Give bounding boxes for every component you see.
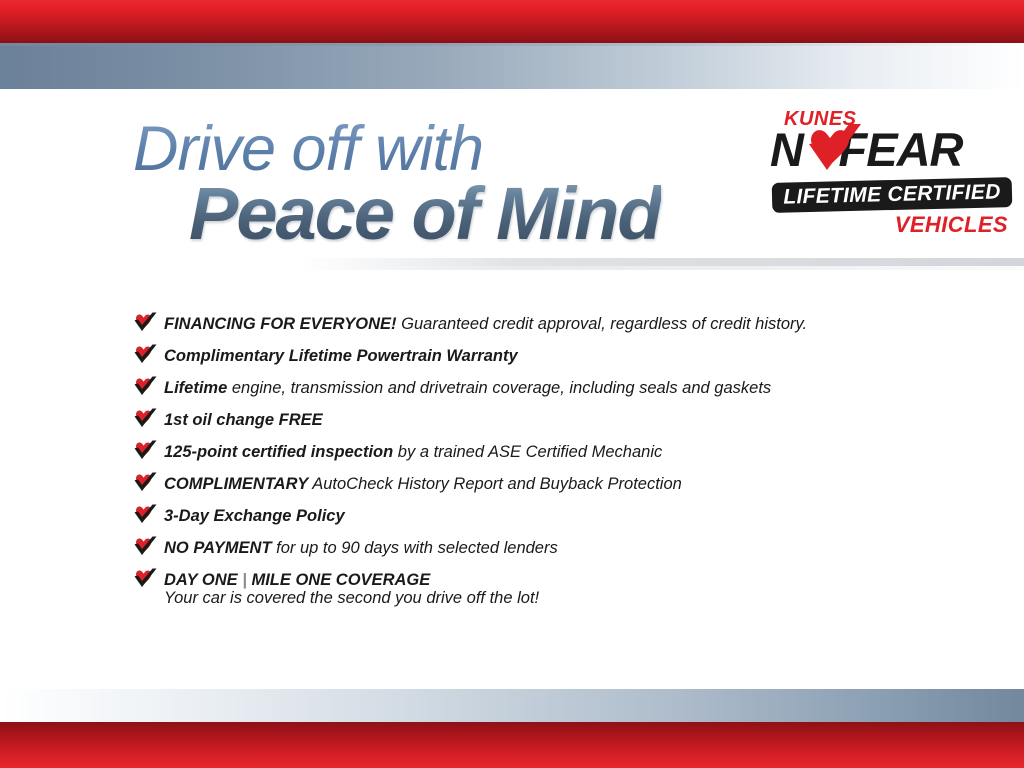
heart-check-icon (133, 376, 157, 398)
heart-check-icon (133, 536, 157, 558)
benefits-list: FINANCING FOR EVERYONE! Guaranteed credi… (133, 308, 933, 616)
bottom-red-band (0, 722, 1024, 768)
list-item-text: 3-Day Exchange Policy (164, 507, 345, 525)
logo-heart-check-icon (803, 124, 865, 182)
list-item: 1st oil change FREE (133, 404, 933, 436)
list-item-text: 125-point certified inspection by a trai… (164, 443, 662, 461)
list-item-bold: Complimentary Lifetime Powertrain Warran… (164, 347, 518, 365)
headline-divider (300, 258, 1024, 270)
heart-check-icon (133, 312, 157, 334)
kunes-no-fear-logo: KUNES NOFEAR LIFETIME CERTIFIED VEHICLES (770, 108, 1014, 246)
list-item-bold-b: MILE ONE COVERAGE (251, 571, 430, 589)
list-item-bold: FINANCING FOR EVERYONE! (164, 315, 397, 333)
list-item-rest: engine, transmission and drivetrain cove… (227, 379, 771, 397)
list-item-bold: Lifetime (164, 379, 227, 397)
heart-check-icon (133, 472, 157, 494)
page-title: Drive off with Peace of Mind (133, 118, 661, 253)
top-red-band (0, 0, 1024, 43)
list-item-text: Complimentary Lifetime Powertrain Warran… (164, 347, 518, 365)
list-item: COMPLIMENTARY AutoCheck History Report a… (133, 468, 933, 500)
advertisement-slide: Drive off with Peace of Mind KUNES NOFEA… (0, 0, 1024, 768)
list-item: FINANCING FOR EVERYONE! Guaranteed credi… (133, 308, 933, 340)
logo-footer-text: VEHICLES (895, 212, 1008, 238)
list-item-bold-a: DAY ONE (164, 571, 238, 589)
logo-lifetime-banner: LIFETIME CERTIFIED (772, 177, 1013, 213)
headline-line-2: Peace of Mind (189, 175, 661, 253)
logo-nofear-text: NOFEAR (770, 126, 962, 173)
heart-check-icon (133, 568, 157, 590)
heart-check-icon (133, 440, 157, 462)
list-item-text: NO PAYMENT for up to 90 days with select… (164, 539, 558, 557)
list-item-text: 1st oil change FREE (164, 411, 323, 429)
list-item: DAY ONE | MILE ONE COVERAGE Your car is … (133, 564, 933, 616)
list-item-rest: by a trained ASE Certified Mechanic (393, 443, 662, 461)
list-item-subtext: Your car is covered the second you drive… (164, 588, 933, 608)
list-item: Lifetime engine, transmission and drivet… (133, 372, 933, 404)
list-item-bold: 125-point certified inspection (164, 443, 393, 461)
list-item-text: DAY ONE | MILE ONE COVERAGE (164, 571, 430, 589)
list-item-bold: 3-Day Exchange Policy (164, 507, 345, 525)
list-item-rest: Guaranteed credit approval, regardless o… (397, 315, 808, 333)
list-item-text: Lifetime engine, transmission and drivet… (164, 379, 771, 397)
top-blue-band (0, 43, 1024, 89)
list-item: Complimentary Lifetime Powertrain Warran… (133, 340, 933, 372)
heart-check-icon (133, 408, 157, 430)
list-item-bold: NO PAYMENT (164, 539, 272, 557)
list-item-text: FINANCING FOR EVERYONE! Guaranteed credi… (164, 315, 807, 333)
list-item-text: COMPLIMENTARY AutoCheck History Report a… (164, 475, 682, 493)
list-item-bold: 1st oil change FREE (164, 411, 323, 429)
bottom-blue-band (0, 689, 1024, 722)
logo-letter-n: N (770, 123, 803, 176)
list-item-rest: AutoCheck History Report and Buyback Pro… (308, 475, 682, 493)
list-item-rest: for up to 90 days with selected lenders (272, 539, 558, 557)
heart-check-icon (133, 344, 157, 366)
logo-banner-text: LIFETIME CERTIFIED (772, 177, 1013, 213)
list-item: NO PAYMENT for up to 90 days with select… (133, 532, 933, 564)
heart-check-icon (133, 504, 157, 526)
list-item: 3-Day Exchange Policy (133, 500, 933, 532)
list-item: 125-point certified inspection by a trai… (133, 436, 933, 468)
list-item-bold: COMPLIMENTARY (164, 475, 308, 493)
